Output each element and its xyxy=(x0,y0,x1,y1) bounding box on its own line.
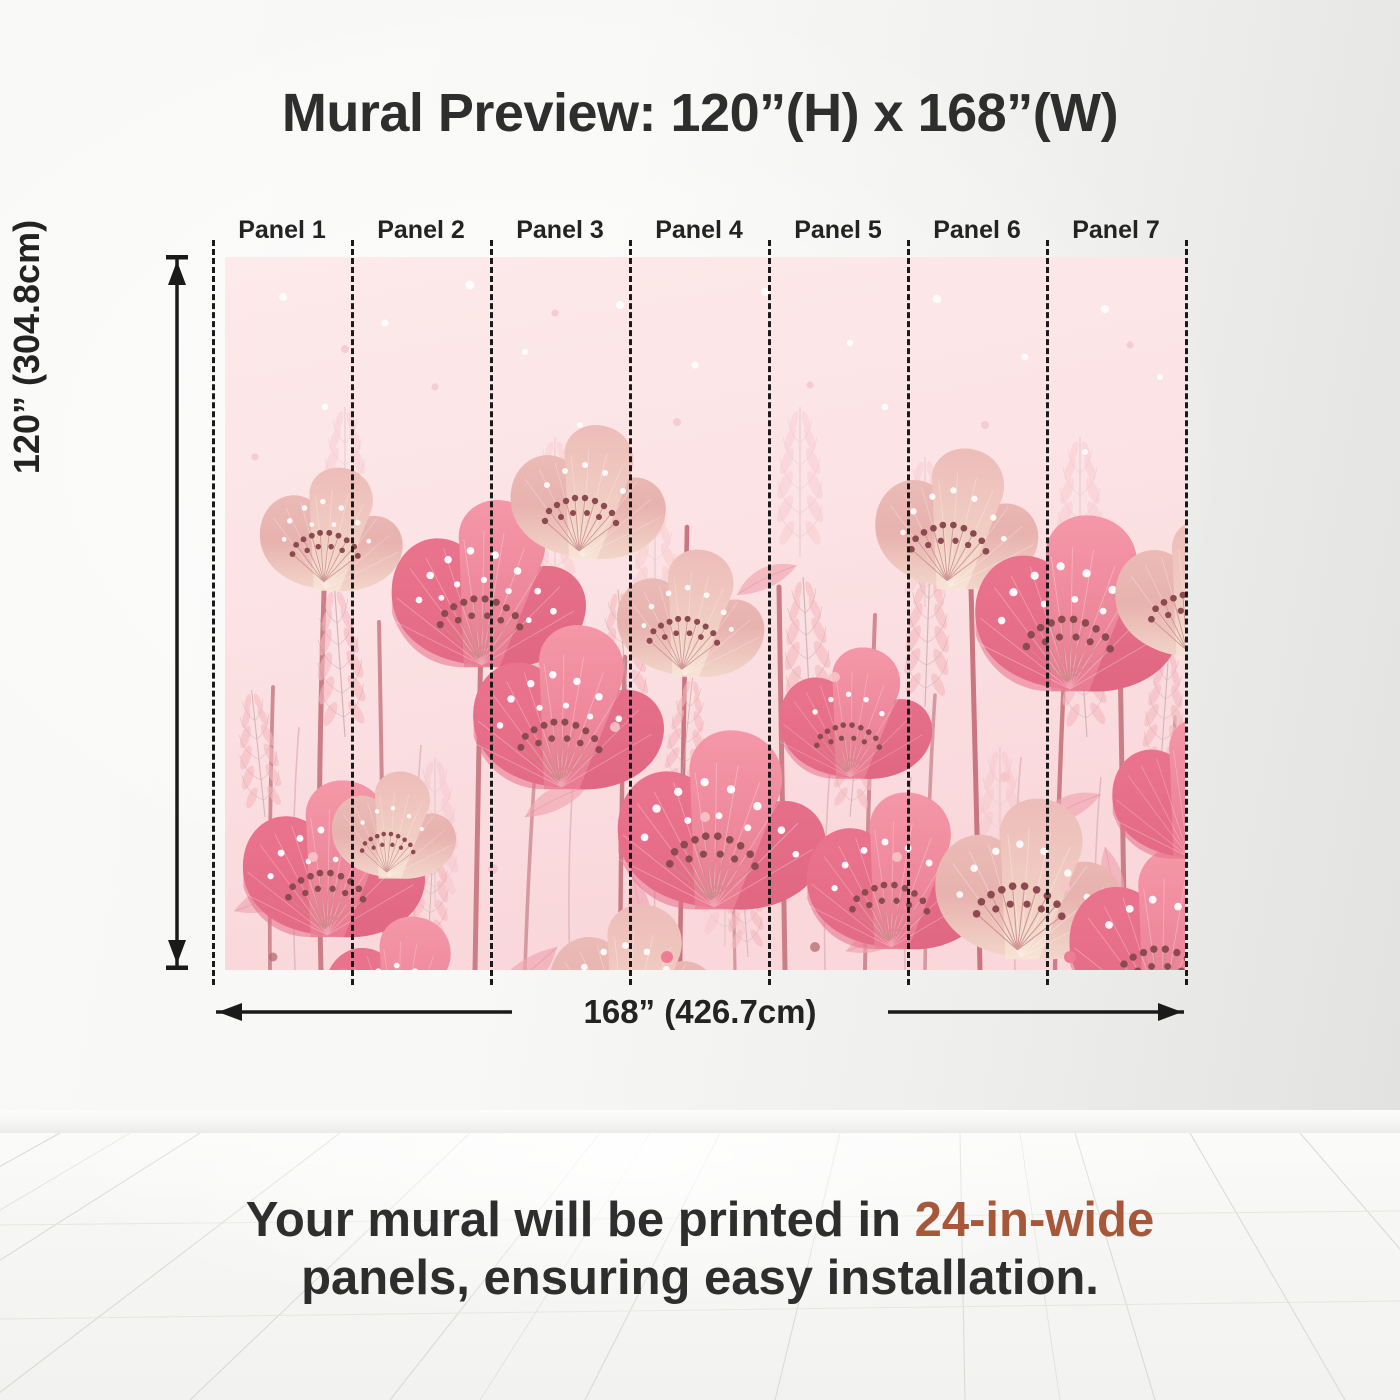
height-dimension-line xyxy=(160,255,194,970)
mural-artwork xyxy=(225,257,1185,970)
wall-baseboard xyxy=(0,1110,1400,1134)
height-arrow-icon xyxy=(160,255,194,970)
panel-divider-4 xyxy=(768,240,771,985)
caption-line-2: panels, ensuring easy installation. xyxy=(0,1250,1400,1308)
floral-pattern-illustration xyxy=(225,257,1185,970)
height-dimension-label: 120” (304.8cm) xyxy=(6,187,48,507)
mural-preview-scene: Mural Preview: 120”(H) x 168”(W) xyxy=(0,0,1400,1400)
panel-divider-6 xyxy=(1046,240,1049,985)
panel-divider-7 xyxy=(1185,240,1188,985)
panel-label-7: Panel 7 xyxy=(1046,216,1186,245)
installation-caption: Your mural will be printed in 24-in-wide… xyxy=(0,1192,1400,1308)
panel-divider-2 xyxy=(490,240,493,985)
panel-divider-1 xyxy=(351,240,354,985)
panel-label-3: Panel 3 xyxy=(490,216,630,245)
panel-label-6: Panel 6 xyxy=(907,216,1047,245)
panel-divider-5 xyxy=(907,240,910,985)
page-title: Mural Preview: 120”(H) x 168”(W) xyxy=(0,82,1400,144)
width-dimension-label: 168” (426.7cm) xyxy=(500,993,900,1031)
caption-line-1-text: Your mural will be printed in xyxy=(246,1193,915,1247)
panel-label-5: Panel 5 xyxy=(768,216,908,245)
caption-line-1: Your mural will be printed in 24-in-wide xyxy=(0,1192,1400,1250)
panel-label-1: Panel 1 xyxy=(212,216,352,245)
panel-label-2: Panel 2 xyxy=(351,216,491,245)
panel-label-4: Panel 4 xyxy=(629,216,769,245)
caption-accent-text: 24-in-wide xyxy=(915,1193,1155,1247)
panel-divider-0 xyxy=(212,240,215,985)
panel-divider-3 xyxy=(629,240,632,985)
